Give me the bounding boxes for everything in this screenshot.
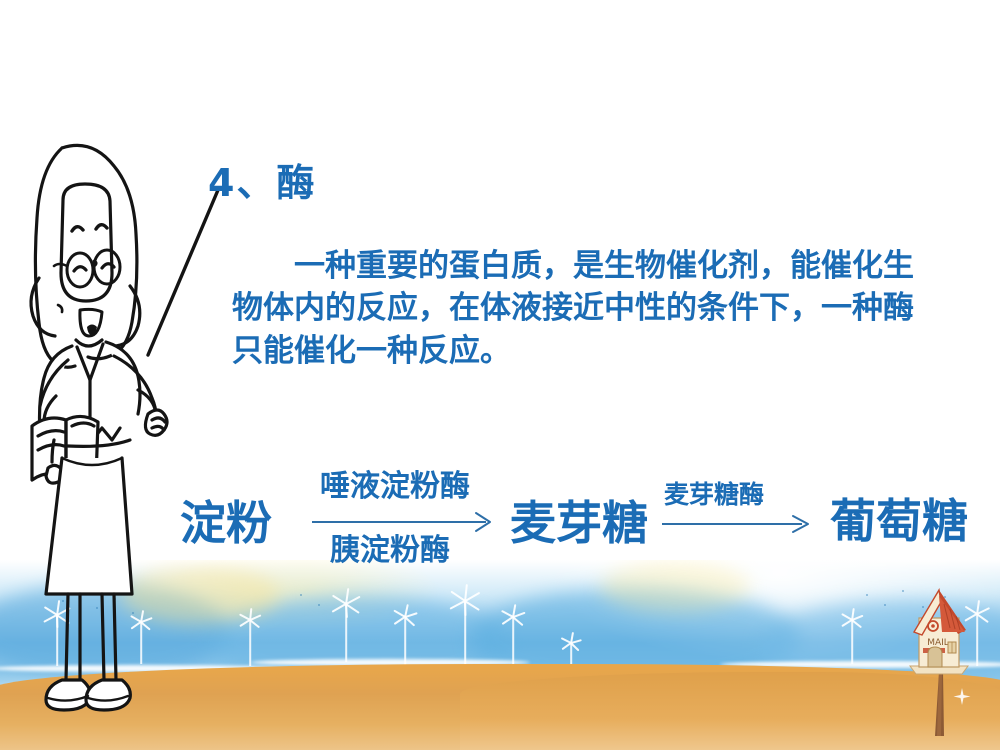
water-speck	[884, 604, 886, 606]
surf-line	[250, 659, 530, 666]
birdhouse-mailbox: MAIL	[892, 588, 984, 738]
water-speck	[96, 607, 98, 609]
water-speck	[922, 606, 924, 608]
page-title: 4、酶	[208, 164, 316, 202]
palm-tree	[840, 608, 864, 664]
water-speck	[62, 600, 64, 602]
palm-tree	[560, 632, 582, 678]
palm-tree	[42, 600, 72, 666]
surf-line	[500, 669, 760, 676]
water-speck	[132, 612, 134, 614]
palm-tree	[238, 608, 262, 666]
sky-wash-blob	[760, 600, 1000, 692]
beach-background	[0, 560, 1000, 750]
water-speck	[944, 596, 946, 598]
reaction-arrow-2	[660, 512, 820, 536]
water-speck	[902, 590, 904, 592]
enzyme-salivary-amylase: 唾液淀粉酶	[320, 472, 470, 502]
sky-wash-blob	[470, 588, 800, 688]
water-speck	[300, 594, 302, 596]
palm-tree	[962, 600, 992, 666]
palm-tree	[330, 588, 362, 662]
species-glucose: 葡萄糖	[830, 498, 968, 544]
reaction-chain: 淀粉 唾液淀粉酶 胰淀粉酶 麦芽糖 麦芽糖酶 葡萄糖	[180, 468, 980, 586]
surf-line	[0, 665, 290, 672]
palm-tree	[128, 610, 154, 664]
water-speck	[318, 604, 320, 606]
water-speck	[866, 594, 868, 596]
water-speck	[78, 593, 80, 595]
sand-foreground	[0, 664, 1000, 750]
palm-tree	[500, 604, 526, 664]
species-starch: 淀粉	[180, 500, 272, 546]
mailbox-label-text: MAIL	[927, 638, 949, 648]
body-paragraph: 一种重要的蛋白质，是生物催化剂，能催化生物体内的反应，在体液接近中性的条件下，一…	[232, 245, 932, 372]
enzyme-pancreatic-amylase: 胰淀粉酶	[330, 536, 450, 566]
slide-canvas: MAIL	[0, 0, 1000, 750]
sky-wash-blob	[0, 584, 230, 680]
species-maltose: 麦芽糖	[510, 500, 648, 546]
palm-tree	[392, 604, 418, 666]
surf-line	[720, 661, 1000, 668]
sand-foreground-right	[460, 672, 1000, 750]
pointer-stick	[140, 185, 230, 360]
reaction-arrow-1	[310, 510, 500, 534]
enzyme-maltase: 麦芽糖酶	[664, 482, 764, 507]
water-speck	[114, 598, 116, 600]
sky-wash-blob	[210, 596, 510, 688]
palm-tree	[448, 584, 482, 664]
